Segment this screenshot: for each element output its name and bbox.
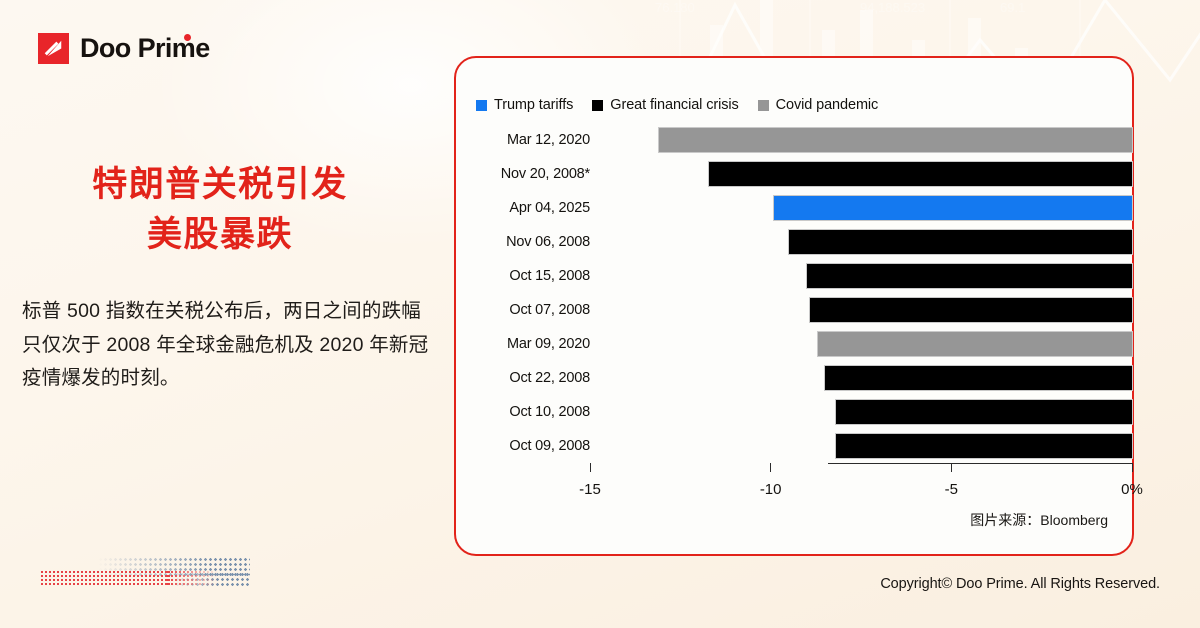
- chart-card: Trump tariffsGreat financial crisisCovid…: [454, 56, 1134, 556]
- bar-track: [590, 225, 1132, 259]
- chart-bar[interactable]: [659, 128, 1132, 152]
- chart-bar-row[interactable]: Nov 06, 2008: [456, 225, 1132, 259]
- halftone-dots-red: [40, 570, 170, 586]
- chart-bar-row[interactable]: Oct 10, 2008: [456, 395, 1132, 429]
- chart-bar-row[interactable]: Oct 09, 2008: [456, 429, 1132, 463]
- bar-category-label: Oct 10, 2008: [456, 404, 590, 420]
- chart-bar[interactable]: [825, 366, 1132, 390]
- bar-track: [590, 361, 1132, 395]
- chart-bar-row[interactable]: Apr 04, 2025: [456, 191, 1132, 225]
- bar-category-label: Oct 22, 2008: [456, 370, 590, 386]
- bar-track: [590, 395, 1132, 429]
- body-copy: 标普 500 指数在关税公布后，两日之间的跌幅只仅次于 2008 年全球金融危机…: [22, 295, 437, 396]
- chart-bar[interactable]: [836, 400, 1132, 424]
- bar-track: [590, 157, 1132, 191]
- chart-bar[interactable]: [810, 298, 1132, 322]
- bar-track: [590, 327, 1132, 361]
- chart-bar[interactable]: [836, 434, 1132, 458]
- halftone-decoration: [40, 556, 250, 590]
- axis-tick-label: 0%: [1121, 481, 1143, 498]
- bar-category-label: Mar 12, 2020: [456, 132, 590, 148]
- chart-bar-row[interactable]: Oct 15, 2008: [456, 259, 1132, 293]
- chart-bar[interactable]: [774, 196, 1132, 220]
- page-title: 特朗普关税引发 美股暴跌: [0, 160, 440, 259]
- axis-tick-label: -10: [760, 481, 782, 498]
- headline-line-2: 美股暴跌: [0, 210, 440, 260]
- doo-prime-logo-mark-icon: [38, 33, 69, 64]
- chart-bar-row[interactable]: Mar 09, 2020: [456, 327, 1132, 361]
- bar-category-label: Oct 15, 2008: [456, 268, 590, 284]
- copyright-text: Copyright© Doo Prime. All Rights Reserve…: [880, 576, 1160, 592]
- bar-category-label: Mar 09, 2020: [456, 336, 590, 352]
- chart-bar-row[interactable]: Nov 20, 2008*: [456, 157, 1132, 191]
- legend-swatch-icon: [592, 100, 603, 111]
- logo-accent-dot-icon: [184, 34, 191, 41]
- halftone-dots-red-fade: [166, 570, 218, 586]
- chart-bar-row[interactable]: Mar 12, 2020: [456, 123, 1132, 157]
- bar-category-label: Oct 09, 2008: [456, 438, 590, 454]
- brand-logo: Doo Prime: [38, 33, 210, 64]
- bar-category-label: Oct 07, 2008: [456, 302, 590, 318]
- bar-track: [590, 259, 1132, 293]
- bar-track: [590, 191, 1132, 225]
- headline-line-1: 特朗普关税引发: [92, 165, 348, 204]
- bar-category-label: Nov 20, 2008*: [456, 166, 590, 182]
- chart-bar-row[interactable]: Oct 07, 2008: [456, 293, 1132, 327]
- legend-swatch-icon: [476, 100, 487, 111]
- chart-bar[interactable]: [807, 264, 1132, 288]
- chart-bar[interactable]: [789, 230, 1132, 254]
- axis-tick: [1132, 463, 1133, 472]
- chart-plot-area: Mar 12, 2020Nov 20, 2008*Apr 04, 2025Nov…: [456, 120, 1132, 554]
- axis-tick-label: -15: [579, 481, 601, 498]
- legend-label: Trump tariffs: [494, 97, 573, 113]
- axis-tick: [590, 463, 591, 472]
- chart-bar-row[interactable]: Oct 22, 2008: [456, 361, 1132, 395]
- axis-baseline: [828, 463, 1132, 464]
- chart-bar[interactable]: [709, 162, 1132, 186]
- chart-source-label: 图片来源：Bloomberg: [970, 510, 1108, 530]
- legend-item[interactable]: Great financial crisis: [592, 97, 738, 113]
- chart-legend: Trump tariffsGreat financial crisisCovid…: [476, 97, 878, 113]
- bar-category-label: Apr 04, 2025: [456, 200, 590, 216]
- bar-track: [590, 429, 1132, 463]
- axis-tick: [770, 463, 771, 472]
- chart-bar[interactable]: [818, 332, 1132, 356]
- legend-item[interactable]: Covid pandemic: [758, 97, 879, 113]
- bar-track: [590, 293, 1132, 327]
- bar-category-label: Nov 06, 2008: [456, 234, 590, 250]
- axis-tick-label: -5: [945, 481, 958, 498]
- legend-item[interactable]: Trump tariffs: [476, 97, 573, 113]
- bar-track: [590, 123, 1132, 157]
- legend-label: Covid pandemic: [776, 97, 879, 113]
- axis-tick: [951, 463, 952, 472]
- legend-swatch-icon: [758, 100, 769, 111]
- chart-x-axis: -15-10-50%: [590, 463, 1132, 464]
- legend-label: Great financial crisis: [610, 97, 738, 113]
